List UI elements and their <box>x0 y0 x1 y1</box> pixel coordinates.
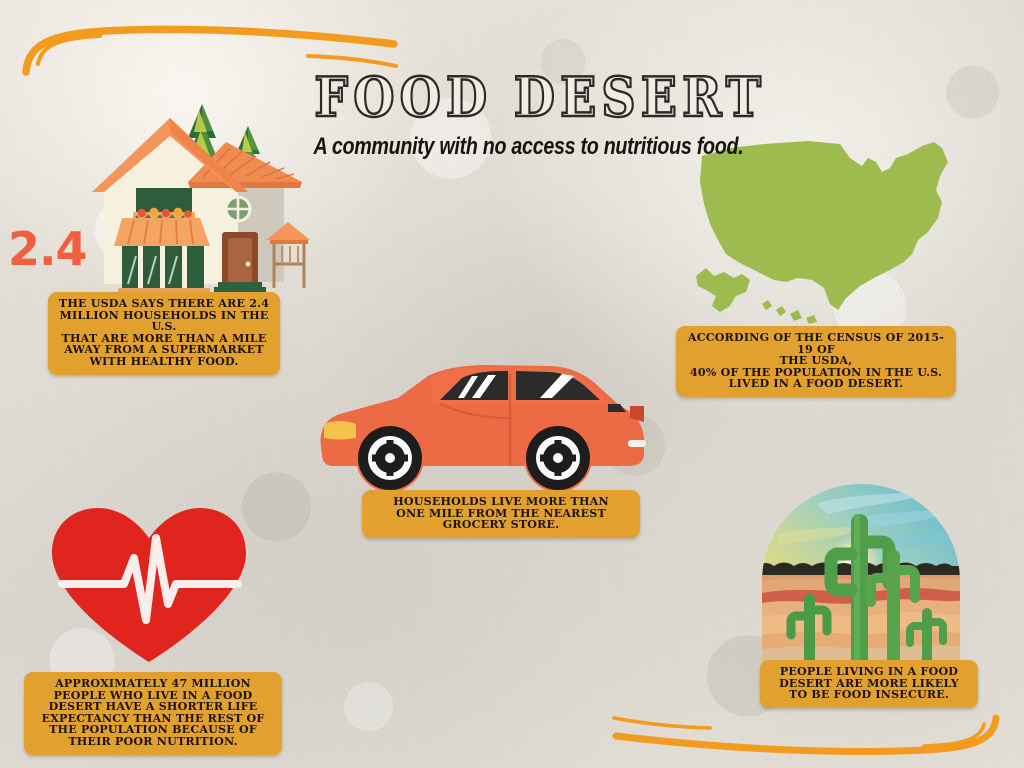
flourish-bottom-right-decoration <box>610 700 1010 762</box>
caption-line: According of the census of 2015-19 of <box>686 332 946 355</box>
caption-line: Approximately 47 million <box>34 678 272 690</box>
caption-line: million households in the U.S. <box>58 310 270 333</box>
desert-illustration <box>756 478 966 666</box>
caption-line: to be food insecure. <box>770 689 968 701</box>
stat-number-2-4: 2.4 <box>8 226 87 272</box>
rear-wheel <box>526 426 590 490</box>
us-map-shape <box>696 141 948 324</box>
page-title: FOOD DESERT <box>300 70 743 124</box>
caption-life-expectancy: Approximately 47 million people who live… <box>24 672 282 755</box>
car-illustration <box>312 362 652 494</box>
page-subtitle: A community with no access to nutritious… <box>300 133 713 161</box>
caption-line: their poor nutrition. <box>34 736 272 748</box>
house-illustration <box>70 96 310 301</box>
caption-usda: The USDA says there are 2.4 million hous… <box>48 292 280 375</box>
caption-line: grocery store. <box>372 519 630 531</box>
caption-line: with healthy food. <box>58 356 270 368</box>
caption-line: lived in a food desert. <box>686 378 946 390</box>
infographic-poster: FOOD DESERT A community with no access t… <box>0 0 1024 768</box>
caption-line: People living in a food <box>770 666 968 678</box>
caption-grocery: Households live more than one mile from … <box>362 490 640 538</box>
heart-illustration <box>38 500 260 668</box>
caption-census: According of the census of 2015-19 of th… <box>676 326 956 397</box>
caption-food-insecure: People living in a food desert are more … <box>760 660 978 708</box>
title-block: FOOD DESERT A community with no access t… <box>300 70 730 157</box>
caption-line: Households live more than <box>372 496 630 508</box>
front-wheel <box>358 426 422 490</box>
caption-line: The USDA says there are 2.4 <box>58 298 270 310</box>
